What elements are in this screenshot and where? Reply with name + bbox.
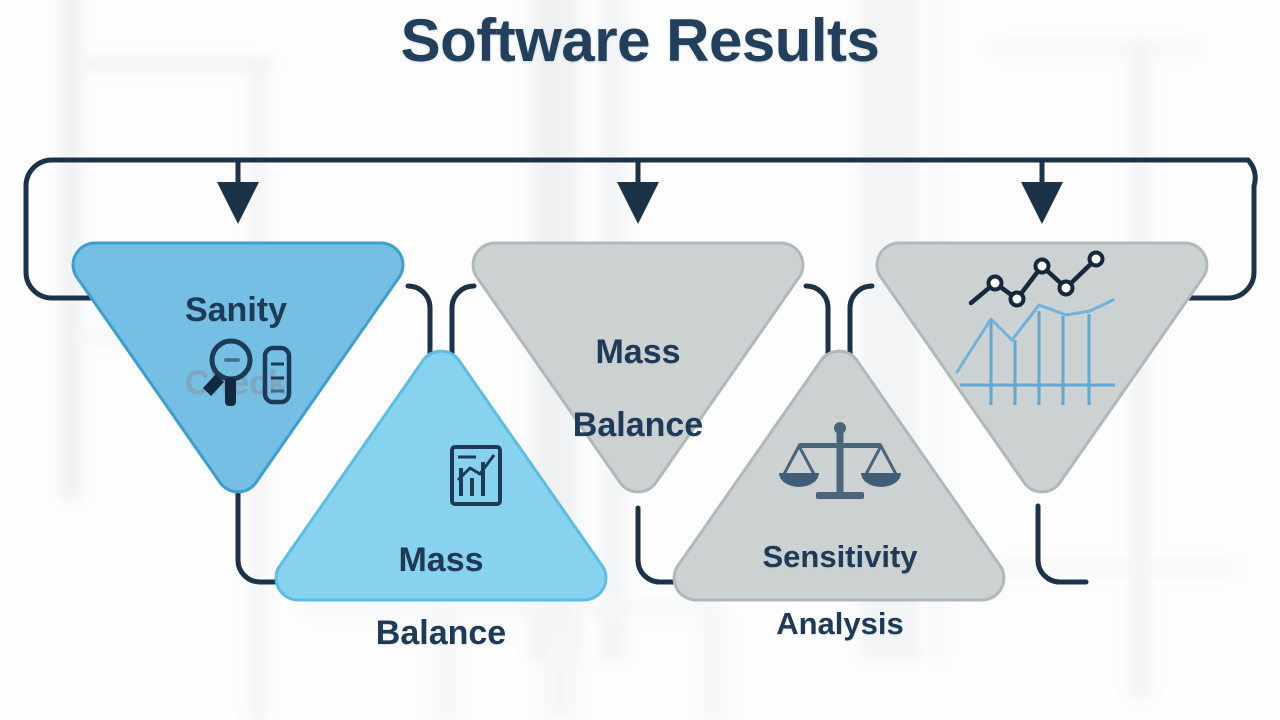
- balance-scale-icon: [779, 422, 901, 499]
- magnifier-checklist-icon: [203, 341, 289, 406]
- bar-chart-document-icon: [452, 447, 500, 504]
- line-chart-icon: [957, 253, 1115, 406]
- slide-canvas: Software Results: [0, 0, 1280, 720]
- node-icons: [0, 0, 1280, 720]
